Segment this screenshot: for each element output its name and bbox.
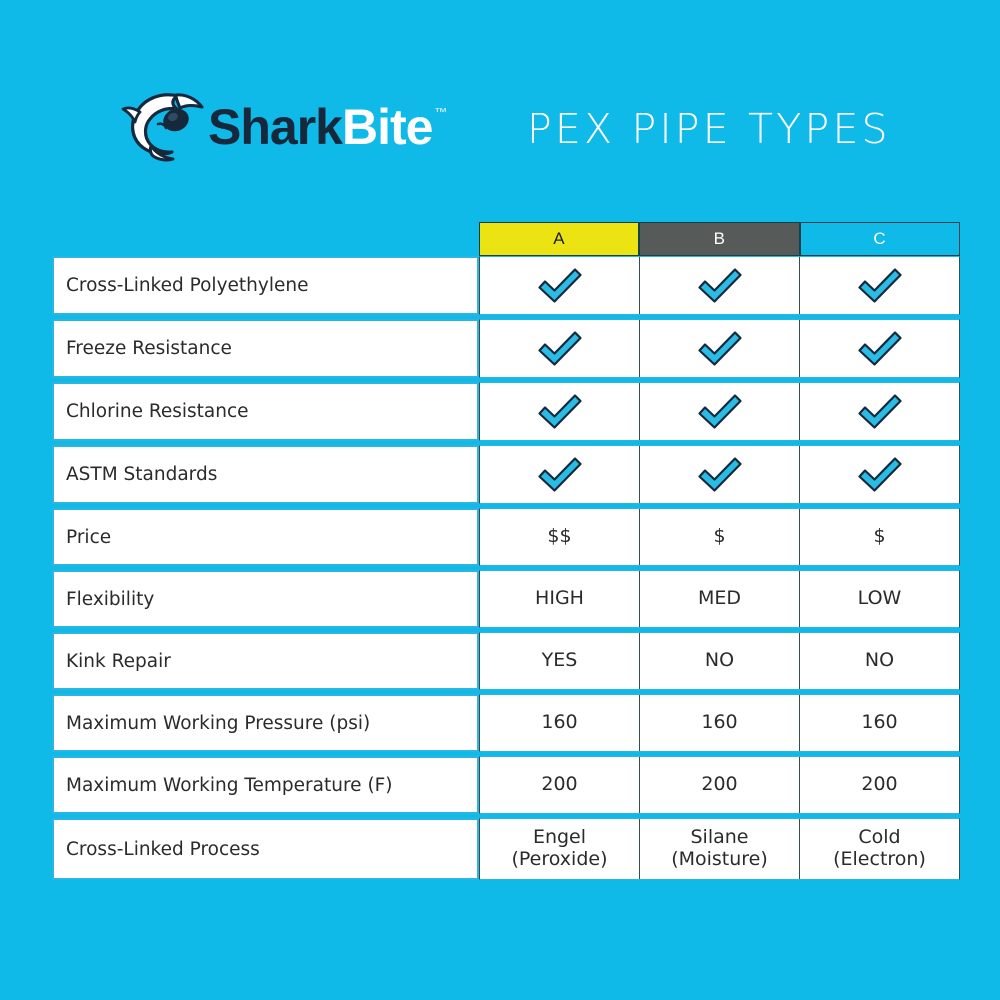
cell-text: 160 bbox=[541, 712, 577, 734]
table-row: Maximum Working Temperature (F)200200200 bbox=[52, 756, 960, 814]
table-row: ASTM Standards bbox=[52, 445, 960, 504]
checkmark-icon bbox=[696, 266, 744, 306]
table-row: Maximum Working Pressure (psi)160160160 bbox=[52, 694, 960, 752]
table-cell: Silane(Moisture) bbox=[640, 819, 800, 879]
checkmark-icon bbox=[696, 392, 744, 432]
row-values: YESNONO bbox=[479, 632, 960, 690]
column-header-b: B bbox=[639, 222, 799, 256]
cell-text: $ bbox=[713, 526, 725, 548]
table-cell: Cold(Electron) bbox=[800, 819, 959, 879]
table-cell: LOW bbox=[800, 571, 959, 627]
cell-text: MED bbox=[698, 588, 741, 610]
row-values: 160160160 bbox=[479, 694, 960, 752]
table-header-row: A B C bbox=[479, 222, 960, 256]
cell-text: YES bbox=[542, 650, 578, 672]
table-row: Kink RepairYESNONO bbox=[52, 632, 960, 690]
shark-icon bbox=[118, 90, 204, 164]
logo-wordmark: Shark Bite ™ bbox=[208, 102, 446, 152]
column-header-a: A bbox=[479, 222, 639, 256]
page-title: PEX PIPE TYPES bbox=[527, 105, 891, 153]
cell-text: 160 bbox=[861, 712, 897, 734]
table-row: Freeze Resistance bbox=[52, 319, 960, 378]
checkmark-icon bbox=[856, 455, 904, 495]
table-cell: HIGH bbox=[480, 571, 640, 627]
table-cell bbox=[800, 257, 959, 314]
table-cell: NO bbox=[800, 633, 959, 689]
checkmark-icon bbox=[856, 392, 904, 432]
table-cell: $$ bbox=[480, 509, 640, 565]
logo-text-bite: Bite bbox=[342, 102, 432, 152]
table-body: Cross-Linked PolyethyleneFreeze Resistan… bbox=[52, 256, 960, 880]
cell-text: HIGH bbox=[535, 588, 584, 610]
cell-text-line1: Engel bbox=[533, 827, 586, 849]
table-cell bbox=[480, 257, 640, 314]
table-cell bbox=[800, 383, 959, 440]
row-label: Price bbox=[52, 508, 479, 566]
table-cell: 200 bbox=[480, 757, 640, 813]
table-cell bbox=[480, 383, 640, 440]
logo-text-shark: Shark bbox=[208, 102, 342, 152]
table-cell bbox=[640, 383, 800, 440]
cell-text-line2: (Peroxide) bbox=[511, 849, 607, 871]
cell-text-line1: Cold bbox=[858, 827, 900, 849]
row-values bbox=[479, 445, 960, 504]
table-row: Chlorine Resistance bbox=[52, 382, 960, 441]
row-label: Cross-Linked Process bbox=[52, 818, 479, 880]
row-values: 200200200 bbox=[479, 756, 960, 814]
checkmark-icon bbox=[696, 455, 744, 495]
row-label: Maximum Working Temperature (F) bbox=[52, 756, 479, 814]
row-label: Chlorine Resistance bbox=[52, 382, 479, 441]
row-values bbox=[479, 256, 960, 315]
table-cell: Engel(Peroxide) bbox=[480, 819, 640, 879]
checkmark-icon bbox=[536, 266, 584, 306]
cell-text: NO bbox=[865, 650, 894, 672]
cell-text: 160 bbox=[701, 712, 737, 734]
row-values: $$$$ bbox=[479, 508, 960, 566]
table-cell bbox=[640, 446, 800, 503]
table-cell bbox=[640, 257, 800, 314]
checkmark-icon bbox=[536, 329, 584, 369]
table-cell bbox=[800, 446, 959, 503]
trademark-symbol: ™ bbox=[434, 106, 446, 119]
table-cell bbox=[480, 446, 640, 503]
cell-text-line2: (Electron) bbox=[833, 849, 926, 871]
row-values bbox=[479, 382, 960, 441]
row-label: ASTM Standards bbox=[52, 445, 479, 504]
row-label: Freeze Resistance bbox=[52, 319, 479, 378]
checkmark-icon bbox=[856, 329, 904, 369]
cell-text: 200 bbox=[541, 774, 577, 796]
pex-comparison-table: A B C Cross-Linked PolyethyleneFreeze Re… bbox=[52, 222, 960, 880]
table-row: Cross-Linked Polyethylene bbox=[52, 256, 960, 315]
cell-text: $ bbox=[873, 526, 885, 548]
table-row: Cross-Linked ProcessEngel(Peroxide)Silan… bbox=[52, 818, 960, 880]
row-label: Maximum Working Pressure (psi) bbox=[52, 694, 479, 752]
cell-text: LOW bbox=[858, 588, 902, 610]
checkmark-icon bbox=[696, 329, 744, 369]
table-cell: $ bbox=[640, 509, 800, 565]
checkmark-icon bbox=[536, 455, 584, 495]
table-row: FlexibilityHIGHMEDLOW bbox=[52, 570, 960, 628]
table-cell: MED bbox=[640, 571, 800, 627]
table-cell: 160 bbox=[800, 695, 959, 751]
row-label: Cross-Linked Polyethylene bbox=[52, 256, 479, 315]
cell-text: 200 bbox=[861, 774, 897, 796]
table-cell: NO bbox=[640, 633, 800, 689]
table-cell: 160 bbox=[640, 695, 800, 751]
cell-text-line2: (Moisture) bbox=[671, 849, 768, 871]
table-cell: 200 bbox=[800, 757, 959, 813]
table-cell bbox=[800, 320, 959, 377]
cell-text: NO bbox=[705, 650, 734, 672]
row-label: Kink Repair bbox=[52, 632, 479, 690]
cell-text: $$ bbox=[547, 526, 571, 548]
table-cell bbox=[480, 320, 640, 377]
checkmark-icon bbox=[536, 392, 584, 432]
row-values: Engel(Peroxide)Silane(Moisture)Cold(Elec… bbox=[479, 818, 960, 880]
row-values bbox=[479, 319, 960, 378]
table-cell bbox=[640, 320, 800, 377]
row-label: Flexibility bbox=[52, 570, 479, 628]
table-row: Price$$$$ bbox=[52, 508, 960, 566]
sharkbite-logo: Shark Bite ™ bbox=[118, 88, 446, 166]
table-cell: 200 bbox=[640, 757, 800, 813]
cell-text-line1: Silane bbox=[691, 827, 749, 849]
table-cell: 160 bbox=[480, 695, 640, 751]
column-header-c: C bbox=[800, 222, 960, 256]
page-header: Shark Bite ™ PEX PIPE TYPES bbox=[0, 0, 1000, 210]
table-cell: YES bbox=[480, 633, 640, 689]
checkmark-icon bbox=[856, 266, 904, 306]
table-cell: $ bbox=[800, 509, 959, 565]
row-values: HIGHMEDLOW bbox=[479, 570, 960, 628]
cell-text: 200 bbox=[701, 774, 737, 796]
